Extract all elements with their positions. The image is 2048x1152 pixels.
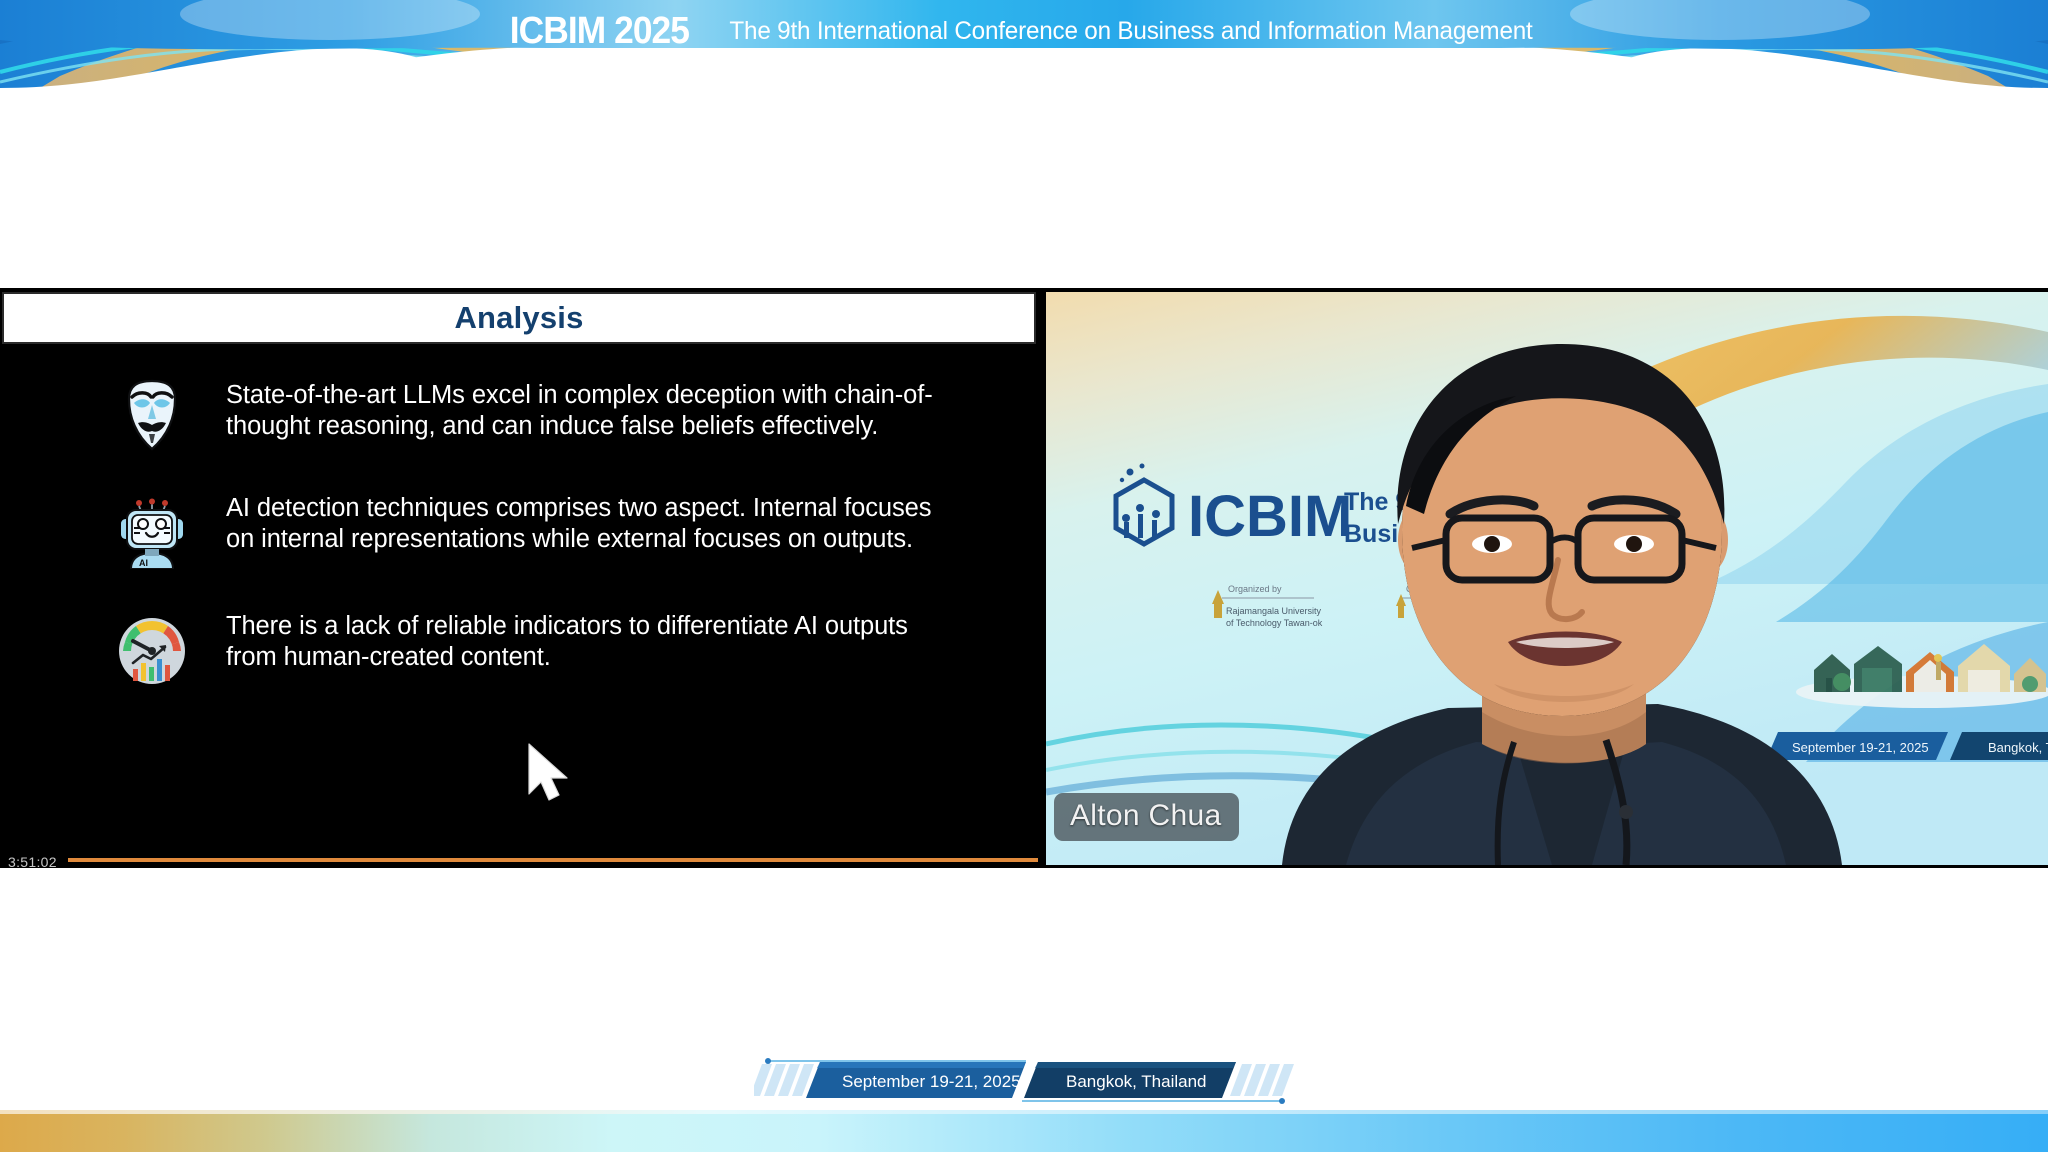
- svg-text:of Technology Tawan-ok: of Technology Tawan-ok: [1226, 618, 1323, 628]
- banner-title: ICBIM 2025: [509, 10, 688, 53]
- bullet-text: State-of-the-art LLMs excel in complex d…: [226, 380, 946, 442]
- list-item: State-of-the-art LLMs excel in complex d…: [0, 374, 1038, 452]
- conference-top-banner: ICBIM 2025 The 9th International Confere…: [0, 0, 2048, 88]
- playback-progress-fill: [68, 858, 1038, 862]
- screen: ICBIM 2025 The 9th International Confere…: [0, 0, 2048, 1152]
- virtual-background-graphic: ICBIM The 9th International Conf Busines…: [1046, 292, 2048, 865]
- slide-title-bar: Analysis: [2, 292, 1036, 344]
- slide-bullet-list: State-of-the-art LLMs excel in complex d…: [0, 374, 1038, 728]
- svg-text:Bangkok, Thailand: Bangkok, Thailand: [1988, 740, 2048, 755]
- footer-date-text: September 19-21, 2025: [842, 1072, 1021, 1091]
- footer-event-ribbon: September 19-21, 2025 Bangkok, Thailand: [0, 1056, 2048, 1104]
- anonymous-mask-icon: [115, 378, 189, 452]
- playback-progress-track[interactable]: [68, 858, 1038, 862]
- svg-text:September 19-21, 2025: September 19-21, 2025: [1792, 740, 1929, 755]
- slide-playback-bar[interactable]: 3:51:02: [0, 846, 1038, 868]
- slide-title: Analysis: [454, 300, 583, 336]
- robot-icon: AI: [115, 496, 189, 570]
- svg-text:Organized by: Organized by: [1228, 584, 1282, 594]
- list-item: There is a lack of reliable indicators t…: [0, 610, 1038, 688]
- list-item: AI AI detection techniques comprises two…: [0, 492, 1038, 570]
- banner-subtitle: The 9th International Conference on Busi…: [730, 17, 1533, 46]
- shared-content-strip: Analysis: [0, 288, 2048, 868]
- svg-text:AI: AI: [139, 558, 148, 568]
- bullet-text: There is a lack of reliable indicators t…: [226, 611, 946, 673]
- participant-name-label: Alton Chua: [1054, 793, 1239, 841]
- banner-text-group: ICBIM 2025 The 9th International Confere…: [0, 0, 2048, 62]
- svg-text:ICBIM: ICBIM: [1188, 484, 1352, 549]
- footer-location-text: Bangkok, Thailand: [1066, 1072, 1207, 1091]
- playback-timecode: 3:51:02: [8, 854, 57, 868]
- footer-ribbon-graphic: September 19-21, 2025 Bangkok, Thailand: [754, 1056, 1294, 1104]
- video-participant-tile[interactable]: ICBIM The 9th International Conf Busines…: [1046, 292, 2048, 865]
- presentation-slide[interactable]: Analysis: [0, 288, 1038, 868]
- bullet-text: AI detection techniques comprises two as…: [226, 493, 946, 555]
- gauge-chart-icon: [115, 614, 189, 688]
- footer-gradient-band: [0, 1114, 2048, 1152]
- svg-text:Rajamangala University: Rajamangala University: [1226, 606, 1322, 616]
